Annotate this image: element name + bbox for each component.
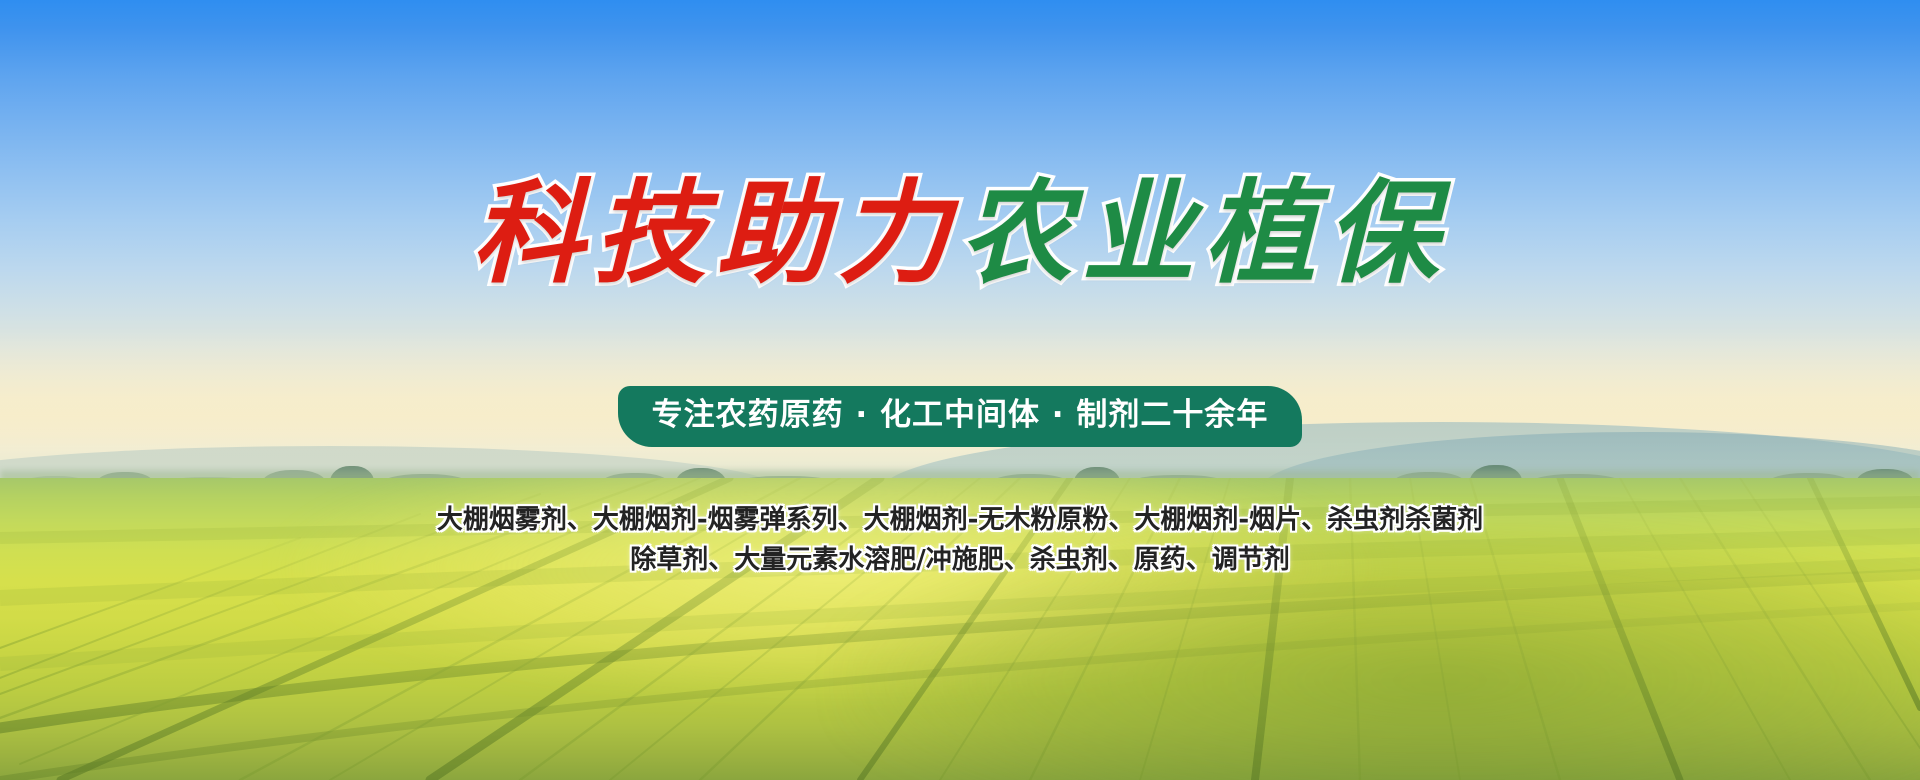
- hero-banner: 科技助力农业植保 专注农药原药 · 化工中间体 · 制剂二十余年 大棚烟雾剂、大…: [0, 0, 1920, 780]
- headline: 科技助力农业植保: [0, 178, 1920, 290]
- tagline-badge: 专注农药原药 · 化工中间体 · 制剂二十余年: [618, 386, 1303, 447]
- product-line-2: 除草剂、大量元素水溶肥/冲施肥、杀虫剂、原药、调节剂: [0, 540, 1920, 580]
- tagline-badge-wrapper: 专注农药原药 · 化工中间体 · 制剂二十余年: [0, 386, 1920, 447]
- product-list: 大棚烟雾剂、大棚烟剂-烟雾弹系列、大棚烟剂-无木粉原粉、大棚烟剂-烟片、杀虫剂杀…: [0, 500, 1920, 580]
- headline-segment-green: 农业植保: [960, 178, 1448, 290]
- product-line-1: 大棚烟雾剂、大棚烟剂-烟雾弹系列、大棚烟剂-无木粉原粉、大棚烟剂-烟片、杀虫剂杀…: [0, 500, 1920, 540]
- headline-segment-red: 科技助力: [472, 178, 960, 290]
